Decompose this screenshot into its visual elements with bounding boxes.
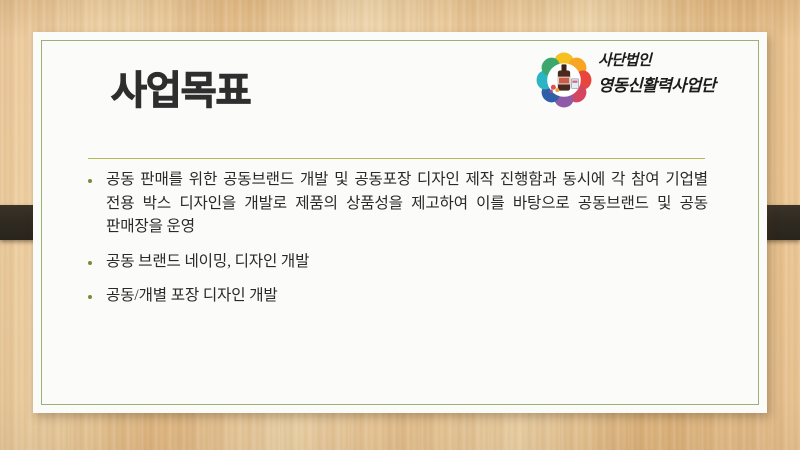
list-item-text: 공동 브랜드 네이밍, 디자인 개발	[106, 250, 708, 274]
list-item: 공동 브랜드 네이밍, 디자인 개발	[88, 250, 708, 274]
organization-logo: 사단법인 영동신활력사업단	[536, 50, 752, 108]
flower-wine-bottle-logo-icon	[536, 52, 592, 108]
list-item: 공동 판매를 위한 공동브랜드 개발 및 공동포장 디자인 제작 진행함과 동시…	[88, 168, 708, 239]
bullet-dot-icon	[88, 261, 92, 265]
title-divider	[88, 158, 705, 159]
bullet-dot-icon	[88, 295, 92, 299]
list-item: 공동/개별 포장 디자인 개발	[88, 284, 708, 308]
content-body: 공동 판매를 위한 공동브랜드 개발 및 공동포장 디자인 제작 진행함과 동시…	[88, 168, 708, 317]
organization-logo-text: 사단법인 영동신활력사업단	[598, 51, 715, 96]
slide-canvas: 사업목표	[0, 0, 800, 450]
bullet-dot-icon	[88, 179, 92, 183]
list-item-text: 공동 판매를 위한 공동브랜드 개발 및 공동포장 디자인 제작 진행함과 동시…	[106, 168, 708, 239]
page-title: 사업목표	[111, 72, 251, 111]
organization-type-label: 사단법인	[598, 51, 715, 69]
organization-name-label: 영동신활력사업단	[598, 75, 715, 96]
list-item-text: 공동/개별 포장 디자인 개발	[106, 284, 708, 308]
